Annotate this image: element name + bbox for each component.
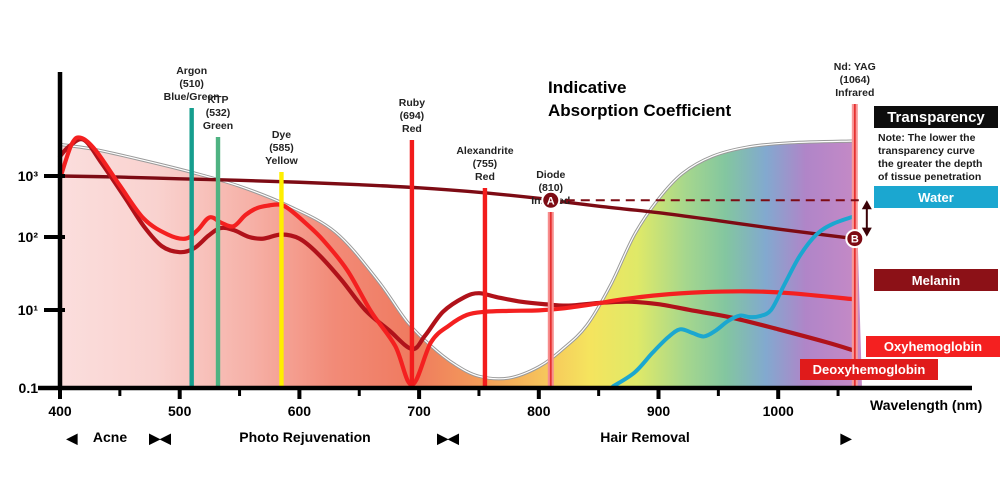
x-axis-label: Wavelength (nm) — [870, 397, 982, 413]
laser-label-color: Yellow — [265, 155, 299, 167]
laser-label-color: Red — [475, 171, 495, 183]
laser-line-argon — [189, 108, 193, 388]
annotation-label: B — [851, 234, 859, 246]
chart-title-line2: Absorption Coefficient — [548, 101, 732, 120]
y-tick-label: 10¹ — [18, 302, 39, 318]
laser-label-color: Red — [402, 123, 422, 135]
transparency-note-line: the greater the depth — [878, 158, 982, 170]
laser-label-color: Green — [203, 120, 233, 132]
laser-line-ruby — [410, 140, 414, 388]
legend-label: Oxyhemoglobin — [884, 339, 982, 354]
treatment-band-label: Acne — [93, 429, 127, 445]
transparency-header: Transparency — [887, 109, 985, 126]
laser-label-name: Alexandrite — [456, 145, 513, 157]
band-marker-right: ▶ — [840, 430, 853, 446]
legend-label: Deoxyhemoglobin — [813, 362, 926, 377]
absorption-chart: Argon(510)Blue/GreenKTP(532)GreenDye(585… — [0, 0, 1000, 500]
laser-label-wavelength: (585) — [269, 142, 294, 154]
y-tick-label: 10² — [18, 229, 39, 245]
laser-label-wavelength: (694) — [400, 110, 425, 122]
x-tick-label: 800 — [527, 403, 551, 419]
laser-line-alexandrite — [483, 188, 487, 388]
treatment-band-label: Photo Rejuvenation — [239, 429, 370, 445]
x-tick-label: 600 — [288, 403, 312, 419]
transparency-note-line: of tissue penetration — [878, 171, 981, 183]
x-tick-label: 900 — [647, 403, 671, 419]
band-marker-left: ◀ — [66, 430, 78, 446]
laser-label-name: Ruby — [399, 97, 425, 109]
chart-title-line1: Indicative — [548, 78, 626, 97]
y-tick-label: 0.1 — [19, 380, 39, 396]
laser-label-wavelength: (510) — [179, 78, 204, 90]
band-marker-right: ▶◀ — [436, 430, 459, 446]
laser-line-ktp — [216, 137, 220, 388]
laser-label-name: Argon — [176, 65, 207, 77]
laser-label-name: Nd: YAG — [834, 61, 876, 73]
x-tick-label: 400 — [48, 403, 72, 419]
chart-root: Argon(510)Blue/GreenKTP(532)GreenDye(585… — [0, 0, 1000, 500]
annotation-label: A — [547, 195, 555, 207]
legend-label: Melanin — [912, 273, 960, 288]
x-tick-label: 500 — [168, 403, 192, 419]
laser-label-wavelength: (532) — [206, 107, 231, 119]
treatment-band-label: Hair Removal — [600, 429, 689, 445]
laser-label-name: KTP — [208, 94, 229, 106]
x-tick-label: 700 — [407, 403, 431, 419]
laser-label-wavelength: (755) — [473, 158, 498, 170]
laser-label-color: Infrared — [835, 87, 874, 99]
y-tick-label: 10³ — [18, 168, 39, 184]
legend-label: Water — [918, 190, 954, 205]
laser-line-dye — [279, 172, 283, 388]
laser-label-name: Dye — [272, 129, 291, 141]
x-tick-label: 1000 — [763, 403, 794, 419]
band-marker-right: ▶◀ — [148, 430, 171, 446]
transparency-note-line: Note: The lower the — [878, 132, 976, 144]
laser-label-name: Diode — [536, 169, 565, 181]
laser-label-wavelength: (1064) — [840, 74, 870, 86]
transparency-note-line: transparency curve — [878, 145, 975, 157]
